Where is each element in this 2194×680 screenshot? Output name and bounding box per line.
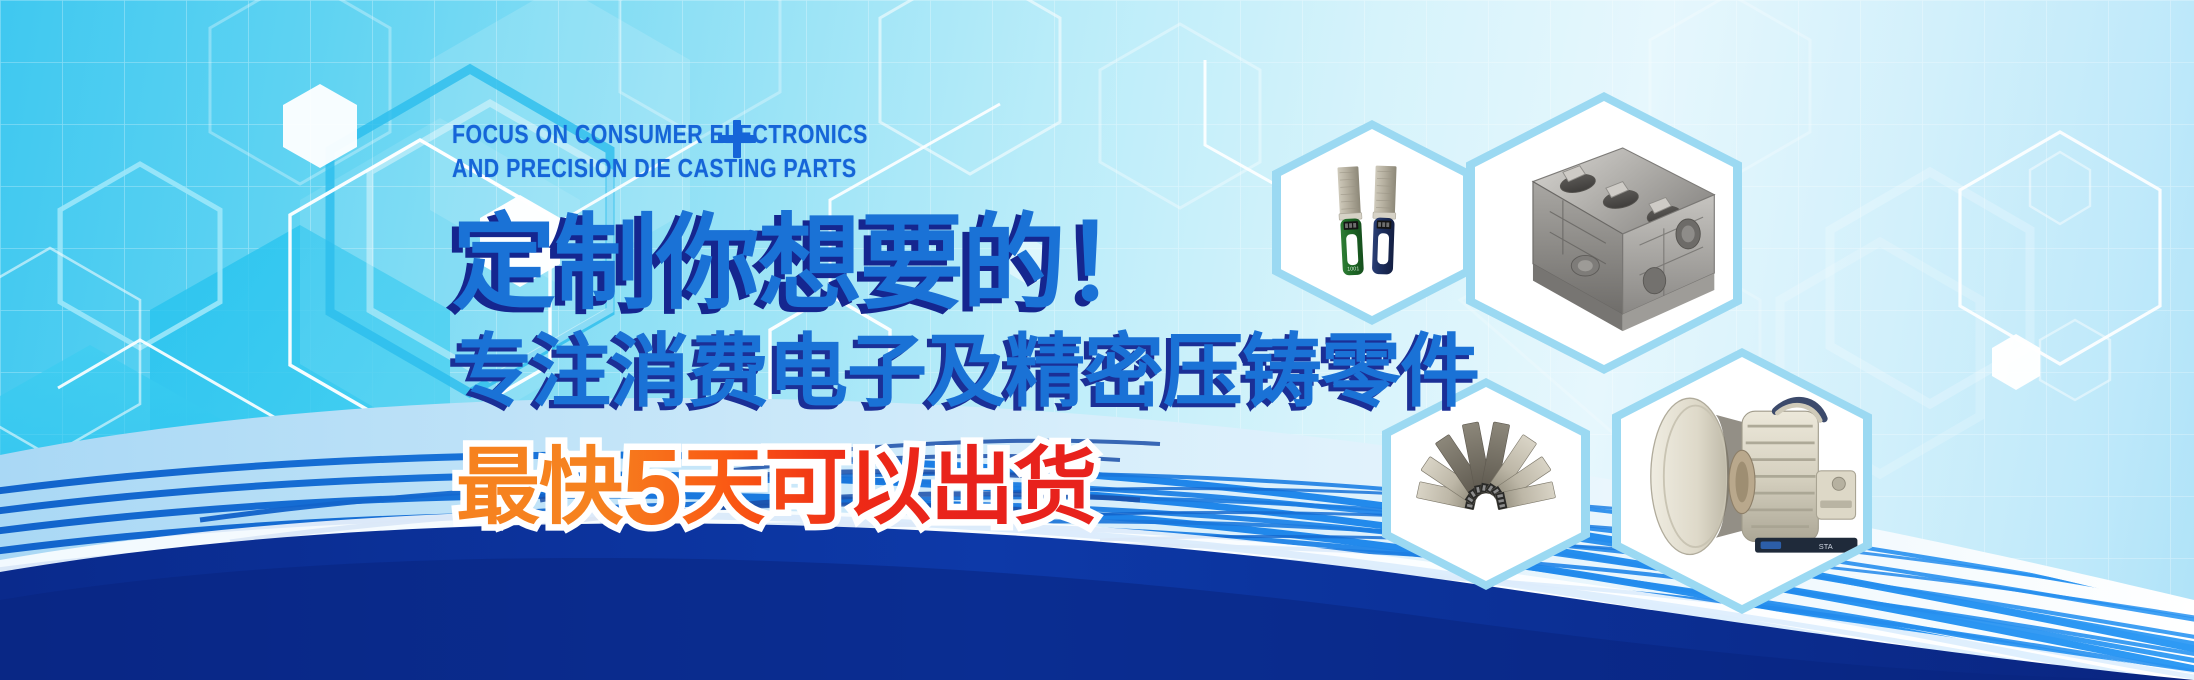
headline-primary-text: 定制你想要的！ [452,212,1166,316]
headline-copy-block: FOCUS ON CONSUMER ELECTRONICS AND PRECIS… [452,118,1372,538]
eyebrow-line-1: FOCUS ON CONSUMER ELECTRONICS [452,119,868,149]
eyebrow-line-2: AND PRECISION DIE CASTING PARTS [452,152,1206,186]
promo-line-text: 最快5天可以出货 [456,442,1096,533]
promotional-banner: FOCUS ON CONSUMER ELECTRONICS AND PRECIS… [0,0,2194,680]
promo-suffix: 天可以出货 [681,440,1096,534]
product-hexagon-engine-block[interactable] [1466,92,1742,374]
promo-prefix: 最快 [456,440,622,534]
headline-primary: 定制你想要的！ 定制你想要的！ [452,212,1372,322]
promo-days-number: 5 [622,426,681,547]
product-hexagon-motor-housing[interactable]: STA [1612,348,1872,614]
svg-text:STA: STA [1819,542,1833,551]
eyebrow-text: FOCUS ON CONSUMER ELECTRONICS AND PRECIS… [452,118,1206,186]
promo-line: 最快5天可以出货 最快5天可以出货 [452,442,1372,538]
headline-secondary: 专注消费电子及精密压铸零件 专注消费电子及精密压铸零件 [452,332,1372,420]
plus-icon [718,120,756,158]
headline-secondary-text: 专注消费电子及精密压铸零件 [452,332,1479,412]
